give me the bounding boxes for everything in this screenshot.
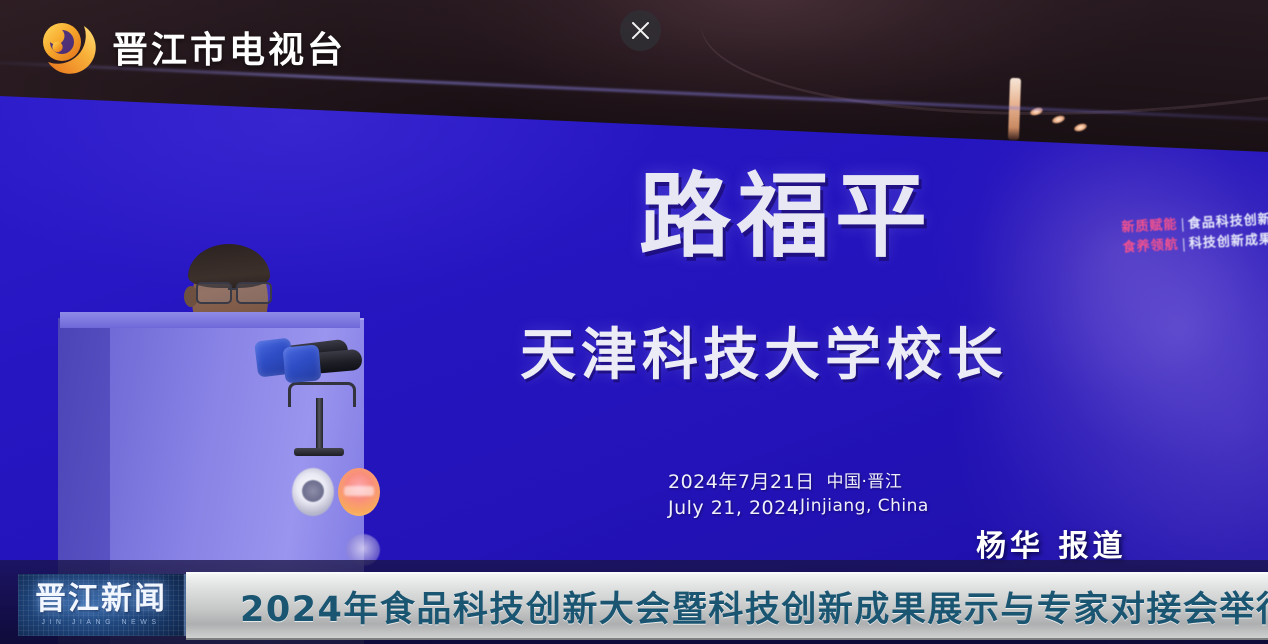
stage-speaker-name: 路福平 — [636, 168, 936, 266]
video-player-frame: 路福平 天津科技大学校长 2024年7月21日 July 21, 2024 中国… — [0, 0, 1268, 644]
close-icon — [631, 21, 650, 40]
wall-banner-sub-line2: 科技创新成果展 — [1189, 231, 1268, 251]
headline-text: 2024年食品科技创新大会暨科技创新成果展示与专家对接会举行 — [240, 581, 1268, 632]
podium-logo-secondary — [338, 468, 380, 516]
speaker-glasses — [196, 282, 272, 301]
program-logo-cn: 晋江新闻 — [35, 584, 167, 615]
stage-place-cn: 中国·晋江 — [800, 470, 929, 494]
wall-banner-separator: | — [1181, 237, 1186, 252]
stage-date-en: July 21, 2024 — [668, 496, 815, 522]
microphone-stand-base — [294, 448, 344, 456]
wall-banner-slogan-line1: 新质赋能 — [1121, 217, 1178, 235]
wall-banner-separator: | — [1180, 217, 1185, 232]
program-logo-block: 晋江新闻 JIN JIANG NEWS — [18, 574, 186, 636]
headline-bar: 2024年食品科技创新大会暨科技创新成果展示与专家对接会举行 — [186, 572, 1268, 640]
wall-banner-sub-line1: 食品科技创新大 — [1187, 211, 1268, 231]
channel-watermark: 晋江市电视台 — [36, 16, 346, 78]
stage-wall-banner: 新质赋能|食品科技创新大 食养领航|科技创新成果展 — [1121, 209, 1268, 257]
podium-logo-primary — [292, 468, 334, 516]
wall-banner-slogan-line2: 食养领航 — [1122, 237, 1179, 255]
reporter-credit: 杨华 报道 — [976, 521, 1126, 565]
stage-date-cn: 2024年7月21日 — [668, 470, 815, 496]
podium-top-surface — [60, 312, 360, 328]
jinjiang-tv-swirl-logo-icon — [36, 16, 98, 78]
close-button[interactable] — [620, 10, 661, 51]
channel-name-label: 晋江市电视台 — [112, 21, 346, 73]
glasses-right-lens — [236, 282, 272, 304]
stage-place-en: Jinjiang, China — [800, 494, 929, 518]
microphone-windscreen — [283, 344, 322, 383]
glasses-bridge — [228, 288, 236, 290]
stage-place-block: 中国·晋江 Jinjiang, China — [800, 470, 929, 518]
stage-date-block: 2024年7月21日 July 21, 2024 — [668, 470, 815, 522]
glasses-left-lens — [196, 282, 232, 304]
lower-third-banner: 晋江新闻 JIN JIANG NEWS 2024年食品科技创新大会暨科技创新成果… — [0, 560, 1268, 644]
stage-speaker-title: 天津科技大学校长 — [518, 325, 1010, 387]
microphone-stand-pole — [316, 398, 323, 452]
program-logo-en: JIN JIANG NEWS — [41, 619, 160, 626]
